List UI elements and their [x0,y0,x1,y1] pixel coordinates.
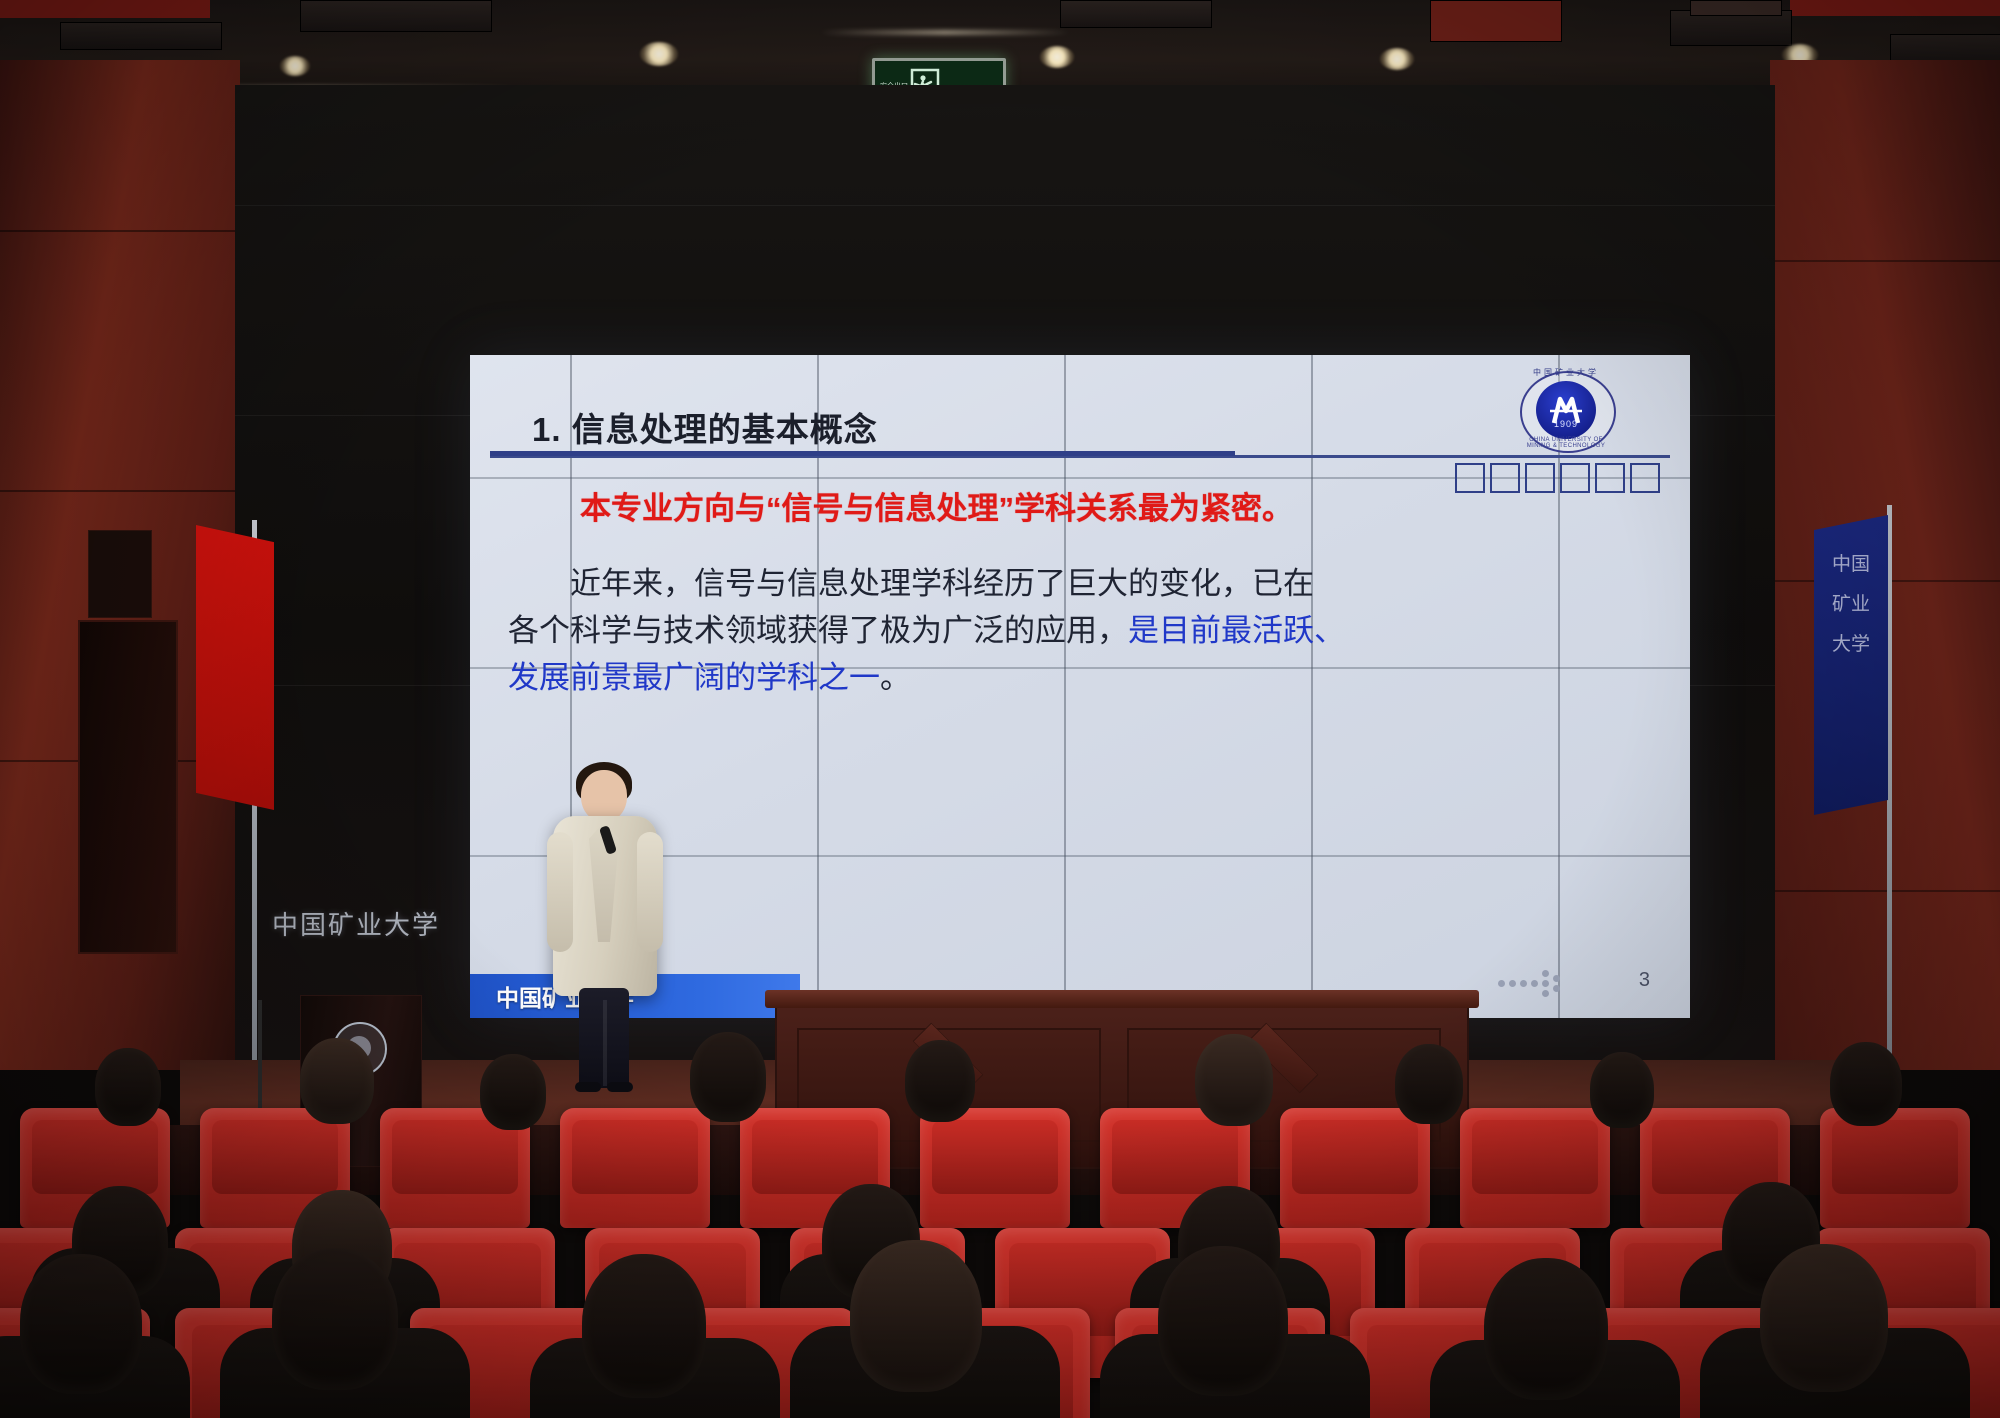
wall-panel [88,530,152,618]
audience-head [850,1240,982,1392]
audience-head [95,1048,161,1126]
auditorium-seat [1460,1108,1610,1228]
text-segment: 各个科学与技术领域获得了极为广泛的应用， [508,613,1128,648]
slide-paragraph-line: 各个科学与技术领域获得了极为广泛的应用，是目前最活跃、 [508,607,1643,654]
ceiling-panel [1430,0,1562,42]
university-flag-text: 中国矿业大学 [1824,545,1878,665]
ceiling-panel [1060,0,1212,28]
ceiling-light [1040,46,1074,68]
presenter-head [581,770,627,822]
slide-paragraph-line: 近年来，信号与信息处理学科经历了巨大的变化，已在 [508,560,1643,607]
auditorium-seat [1820,1108,1970,1228]
auditorium-seat [560,1108,710,1228]
slide-title: 1. 信息处理的基本概念 [532,403,878,451]
cumt-logo: 中国矿业大学 1909 CHINA UNIVERSITY OF MINING &… [1520,363,1612,455]
audience-head [480,1054,546,1130]
audience-head [1590,1052,1654,1128]
auditorium-seat [1280,1108,1430,1228]
audience-head [1760,1244,1888,1392]
audience-head [300,1038,374,1124]
slide-highlight-line: 本专业方向与“信号与信息处理”学科关系最为紧密。 [580,483,1293,528]
venue-wall-lettering: 中国矿业大学 [272,905,442,942]
title-underline-accent [490,451,1235,456]
ceiling-panel [1690,0,1782,16]
presenter-speaker [545,770,665,1090]
university-flag: 中国矿业大学 [1814,515,1888,815]
dotted-arrow-icon [1498,970,1568,996]
text-segment: 。 [880,660,911,695]
audience-head [905,1040,975,1122]
ceiling-light [640,42,678,66]
ceiling-light [1380,48,1414,70]
audience-head [272,1248,398,1390]
text-segment: 近年来，信号与信息处理学科经历了巨大的变化，已在 [570,566,1314,601]
slide-page-number: 3 [1639,969,1650,992]
slide-paragraph: 近年来，信号与信息处理学科经历了巨大的变化，已在 各个科学与技术领域获得了极为广… [508,560,1643,701]
text-segment-blue: 是目前最活跃、 [1128,613,1345,648]
slide-paragraph-line: 发展前景最广阔的学科之一。 [508,654,1643,701]
audience-seating [0,1058,2000,1418]
ceiling-panel [300,0,492,32]
ceiling-red-beam [1790,0,2000,16]
audience-head [690,1032,766,1122]
logo-year: 1909 [1536,419,1596,429]
audience-head [582,1254,706,1398]
decor-box-row [1455,463,1660,493]
ceiling-panel [60,22,222,50]
auditorium-seat [920,1108,1070,1228]
audience-head [1484,1258,1608,1400]
audience-head [1195,1034,1273,1126]
side-door [78,620,178,954]
ceiling-light [280,56,310,76]
lecture-hall-photo: 安全出口 → 中国矿业大学 中国矿业大学 [0,0,2000,1418]
audience-head [1395,1044,1463,1124]
chinese-national-flag [196,525,274,810]
audience-head [1830,1042,1902,1126]
logo-en-text: CHINA UNIVERSITY OF MINING & TECHNOLOGY [1520,437,1612,449]
text-segment-blue: 发展前景最广阔的学科之一 [508,660,880,695]
ceiling-red-beam [0,0,210,18]
ceiling-light-strip [820,30,1070,35]
logo-cn-text: 中国矿业大学 [1524,367,1608,378]
audience-head [20,1254,142,1394]
audience-head [1158,1246,1288,1396]
